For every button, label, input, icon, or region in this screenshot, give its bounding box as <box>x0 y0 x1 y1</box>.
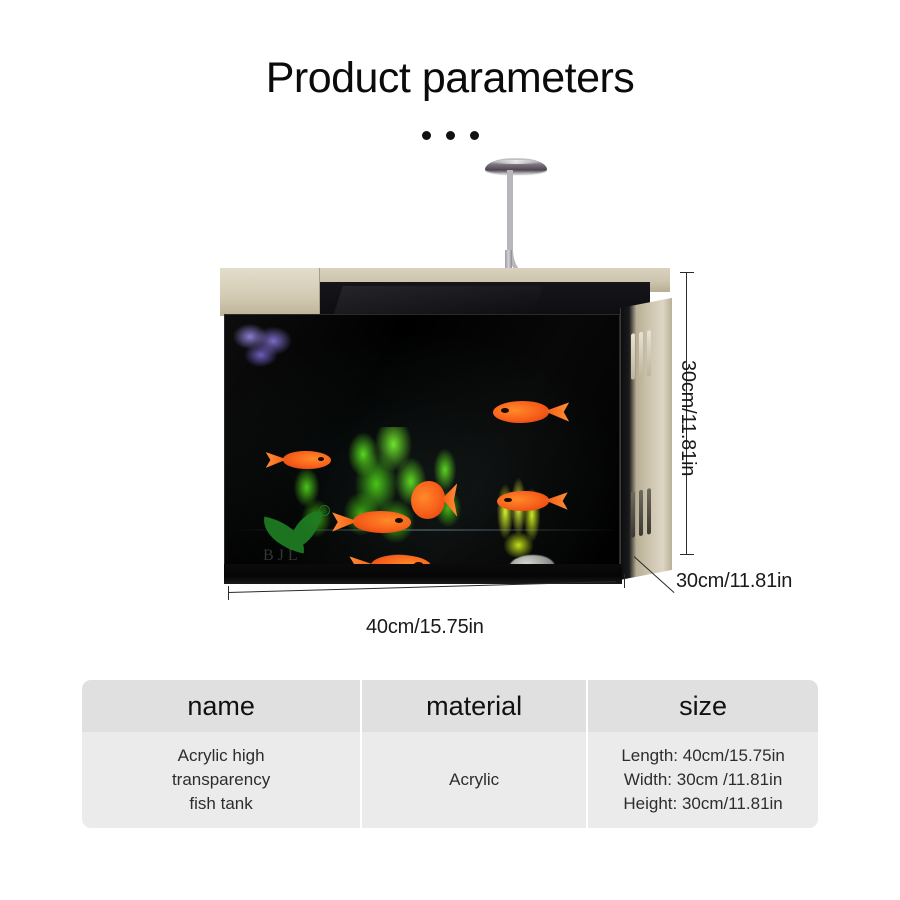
column-header-name: name <box>82 680 360 732</box>
dot-icon <box>446 131 455 140</box>
spec-table: name material size Acrylic high transpar… <box>82 680 818 828</box>
cell-size-value: Length: 40cm/15.75in Width: 30cm /11.81i… <box>588 732 818 828</box>
goldfish-tail <box>266 452 287 468</box>
spec-table-header-row: name material size <box>82 680 818 732</box>
yellow-anemone-decoration <box>483 473 557 557</box>
vent-slot <box>639 332 643 379</box>
product-photo: ® BJL <box>150 150 750 650</box>
tank-bottom-edge <box>224 564 622 584</box>
column-header-material: material <box>362 680 586 732</box>
height-dimension-label: 30cm/11.81in <box>676 360 699 476</box>
tank-side-panel <box>620 298 672 580</box>
brand-watermark: ® BJL <box>257 505 343 567</box>
width-dimension-tick-left <box>228 586 229 600</box>
cell-material-value: Acrylic <box>362 732 586 828</box>
goldfish <box>283 451 331 469</box>
depth-dimension-label: 30cm/11.81in <box>676 570 792 593</box>
width-dimension-label: 40cm/15.75in <box>366 616 484 639</box>
goldfish <box>353 511 411 533</box>
goldfish-body <box>283 451 331 469</box>
goldfish-tail <box>545 402 570 421</box>
vent-slot <box>647 488 651 535</box>
goldfish-body <box>353 511 411 533</box>
goldfish-body <box>411 481 445 519</box>
cell-name-value: Acrylic high transparency fish tank <box>82 732 360 828</box>
aquarium-tank: ® BJL <box>220 268 670 588</box>
watermark-text: BJL <box>263 547 302 565</box>
width-dimension-tick-right <box>624 574 625 588</box>
dot-icon <box>422 131 431 140</box>
registered-mark-icon: ® <box>319 505 330 516</box>
tank-front-glass: ® BJL <box>224 314 620 582</box>
tank-hood-sheen <box>333 286 543 316</box>
dot-icon <box>470 131 479 140</box>
goldfish <box>497 491 549 511</box>
height-dimension-tick-bottom <box>680 554 694 555</box>
vent-slot <box>647 330 651 377</box>
column-header-size: size <box>588 680 818 732</box>
spec-table-row: Acrylic high transparency fish tank Acry… <box>82 732 818 828</box>
vent-slot <box>631 333 635 380</box>
vent-slot <box>639 490 643 537</box>
title-dots-decoration <box>0 131 900 140</box>
vent-slot <box>631 491 635 538</box>
page-title: Product parameters <box>0 54 900 103</box>
goldfish-eye <box>504 498 511 502</box>
product-parameters-page: Product parameters <box>0 0 900 900</box>
height-dimension-tick-top <box>680 272 694 273</box>
tank-top-left-block <box>220 268 320 316</box>
goldfish <box>411 481 445 519</box>
purple-coral-decoration <box>225 315 303 369</box>
goldfish <box>493 401 549 423</box>
